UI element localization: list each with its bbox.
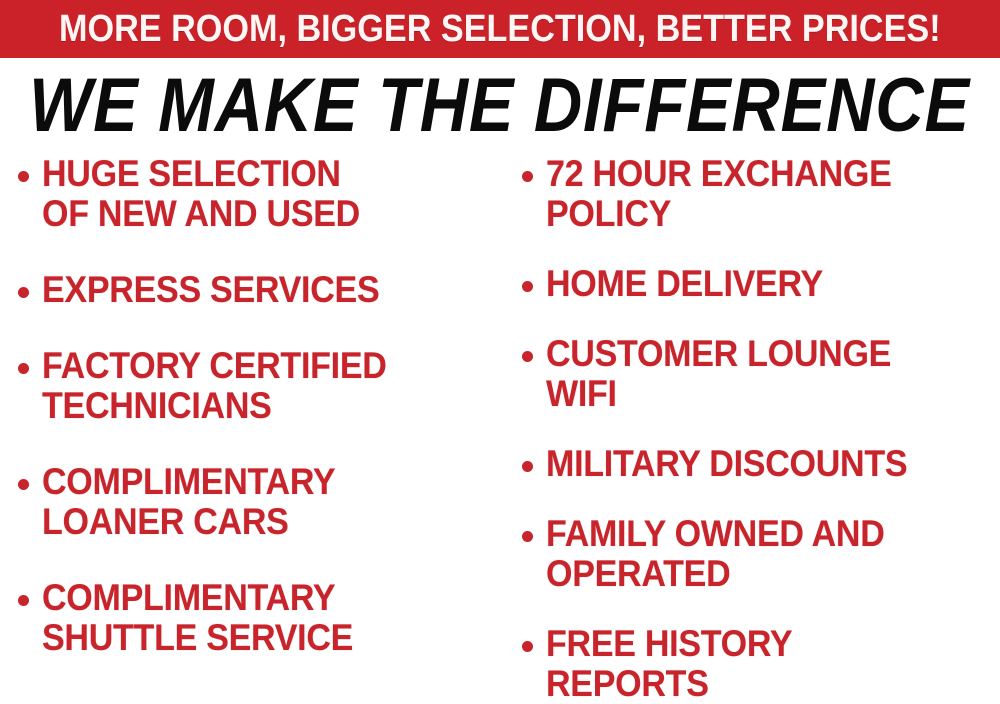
page-title: WE MAKE THE DIFFERENCE <box>30 68 971 144</box>
list-item: 72 HOUR EXCHANGE POLICY <box>522 154 1000 234</box>
bullet-dot-icon <box>522 351 533 362</box>
list-item-label: FACTORY CERTIFIED TECHNICIANS <box>42 346 387 426</box>
list-item: FAMILY OWNED AND OPERATED <box>522 514 1000 594</box>
bullet-dot-icon <box>522 171 533 182</box>
list-item: HOME DELIVERY <box>522 264 1000 304</box>
list-item: HUGE SELECTION OF NEW AND USED <box>18 154 496 234</box>
list-item-label: EXPRESS SERVICES <box>42 270 379 310</box>
benefits-column-right: 72 HOUR EXCHANGE POLICY HOME DELIVERY CU… <box>500 154 1000 694</box>
list-item: FACTORY CERTIFIED TECHNICIANS <box>18 346 496 426</box>
list-item-label: HOME DELIVERY <box>546 264 823 304</box>
list-item-label: CUSTOMER LOUNGE WIFI <box>546 334 891 414</box>
bullet-dot-icon <box>18 171 29 182</box>
list-item: MILITARY DISCOUNTS <box>522 444 1000 484</box>
promo-banner: MORE ROOM, BIGGER SELECTION, BETTER PRIC… <box>0 0 1000 58</box>
list-item: CUSTOMER LOUNGE WIFI <box>522 334 1000 414</box>
bullet-dot-icon <box>18 287 29 298</box>
list-item: COMPLIMENTARY SHUTTLE SERVICE <box>18 578 496 658</box>
bullet-dot-icon <box>522 461 533 472</box>
bullet-dot-icon <box>522 281 533 292</box>
benefits-column-left: HUGE SELECTION OF NEW AND USED EXPRESS S… <box>0 154 500 694</box>
promo-banner-text: MORE ROOM, BIGGER SELECTION, BETTER PRIC… <box>59 10 941 48</box>
list-item-label: COMPLIMENTARY SHUTTLE SERVICE <box>42 578 353 658</box>
bullet-dot-icon <box>522 641 533 652</box>
list-item-label: COMPLIMENTARY LOANER CARS <box>42 462 335 542</box>
bullet-dot-icon <box>18 479 29 490</box>
list-item-label: HUGE SELECTION OF NEW AND USED <box>42 154 360 234</box>
list-item: FREE HISTORY REPORTS <box>522 624 1000 704</box>
bullet-dot-icon <box>18 363 29 374</box>
list-item-label: FREE HISTORY REPORTS <box>546 624 792 704</box>
bullet-dot-icon <box>522 531 533 542</box>
benefits-columns: HUGE SELECTION OF NEW AND USED EXPRESS S… <box>0 154 1000 694</box>
list-item: EXPRESS SERVICES <box>18 270 496 310</box>
list-item-label: 72 HOUR EXCHANGE POLICY <box>546 154 892 234</box>
bullet-dot-icon <box>18 595 29 606</box>
list-item-label: MILITARY DISCOUNTS <box>546 444 907 484</box>
list-item-label: FAMILY OWNED AND OPERATED <box>546 514 885 594</box>
headline-block: WE MAKE THE DIFFERENCE <box>0 62 1000 150</box>
list-item: COMPLIMENTARY LOANER CARS <box>18 462 496 542</box>
